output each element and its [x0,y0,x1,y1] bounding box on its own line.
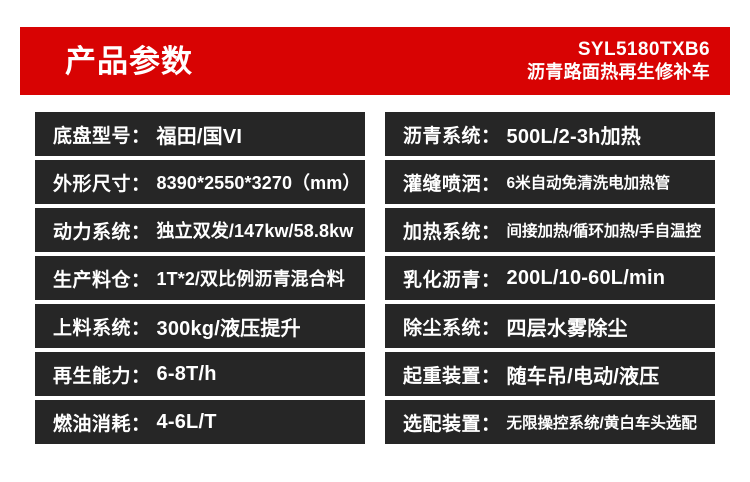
spec-label: 动力系统： [53,217,151,244]
spec-label: 再生能力： [53,361,151,388]
spec-row: 选配装置：无限操控系统/黄白车头选配 [385,400,715,444]
spec-label: 生产料仓： [53,265,151,292]
spec-row: 除尘系统：四层水雾除尘 [385,304,715,348]
spec-value: 6米自动免清洗电加热管 [507,171,671,193]
spec-value: 福田/国VI [157,120,243,149]
spec-value: 500L/2-3h加热 [507,120,641,149]
spec-column-right: 沥青系统：500L/2-3h加热灌缝喷洒：6米自动免清洗电加热管加热系统：间接加… [385,112,715,448]
spec-value: 8390*2550*3270（mm） [157,169,361,195]
spec-label: 加热系统： [403,217,501,244]
spec-row: 动力系统：独立双发/147kw/58.8kw [35,208,365,252]
spec-value: 间接加热/循环加热/手自温控 [507,219,702,241]
spec-label: 起重装置： [403,361,501,388]
header-banner: 产品参数 SYL5180TXB6 沥青路面热再生修补车 [20,27,730,95]
spec-row: 起重装置：随车吊/电动/液压 [385,352,715,396]
spec-label: 灌缝喷洒： [403,169,501,196]
spec-grid: 底盘型号：福田/国VI外形尺寸：8390*2550*3270（mm）动力系统：独… [35,112,715,448]
spec-row: 燃油消耗：4-6L/T [35,400,365,444]
spec-label: 外形尺寸： [53,169,151,196]
spec-row: 生产料仓：1T*2/双比例沥青混合料 [35,256,365,300]
spec-label: 底盘型号： [53,121,151,148]
spec-row: 加热系统：间接加热/循环加热/手自温控 [385,208,715,252]
spec-label: 燃油消耗： [53,409,151,436]
model-name: 沥青路面热再生修补车 [527,62,710,83]
page-title: 产品参数 [65,46,193,77]
spec-label: 选配装置： [403,409,501,436]
spec-value: 200L/10-60L/min [507,267,666,290]
product-spec-page: 产品参数 SYL5180TXB6 沥青路面热再生修补车 底盘型号：福田/国VI外… [0,0,750,482]
spec-label: 上料系统： [53,313,151,340]
spec-value: 300kg/液压提升 [157,312,301,341]
spec-value: 6-8T/h [157,363,217,386]
spec-row: 沥青系统：500L/2-3h加热 [385,112,715,156]
spec-row: 灌缝喷洒：6米自动免清洗电加热管 [385,160,715,204]
spec-value: 四层水雾除尘 [507,312,628,341]
spec-value: 独立双发/147kw/58.8kw [157,217,354,243]
spec-value: 随车吊/电动/液压 [507,360,660,389]
spec-label: 沥青系统： [403,121,501,148]
spec-row: 再生能力：6-8T/h [35,352,365,396]
model-code: SYL5180TXB6 [527,39,710,61]
spec-label: 除尘系统： [403,313,501,340]
spec-row: 外形尺寸：8390*2550*3270（mm） [35,160,365,204]
spec-value: 4-6L/T [157,411,217,434]
spec-value: 无限操控系统/黄白车头选配 [507,411,697,433]
spec-row: 乳化沥青：200L/10-60L/min [385,256,715,300]
spec-row: 上料系统：300kg/液压提升 [35,304,365,348]
spec-label: 乳化沥青： [403,265,501,292]
spec-value: 1T*2/双比例沥青混合料 [157,265,345,291]
spec-row: 底盘型号：福田/国VI [35,112,365,156]
spec-column-left: 底盘型号：福田/国VI外形尺寸：8390*2550*3270（mm）动力系统：独… [35,112,365,448]
model-info: SYL5180TXB6 沥青路面热再生修补车 [527,39,710,83]
